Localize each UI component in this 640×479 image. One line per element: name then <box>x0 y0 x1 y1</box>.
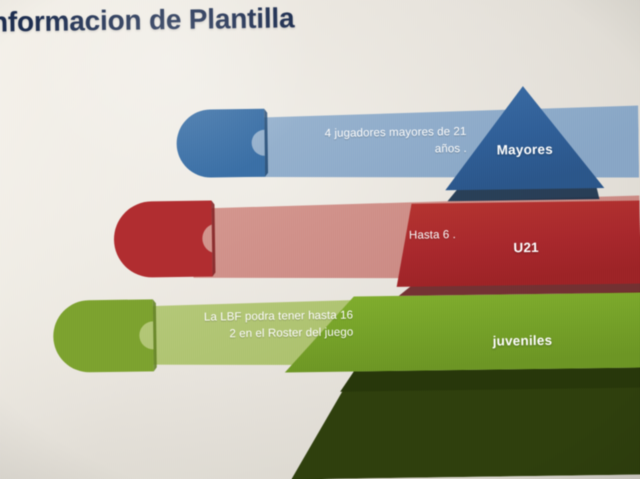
presentation-slide: nformacion de Plantilla <box>0 0 640 479</box>
pyramid-base-shadow <box>290 368 640 479</box>
callout-cap-red <box>113 201 212 278</box>
pyramid-graphic <box>0 0 640 479</box>
pyramid-tier-green[interactable] <box>53 292 640 376</box>
pyramid-diagram: 4 jugadores mayores de 21 años . Hasta 6… <box>0 0 640 479</box>
pyramid-tier-red[interactable] <box>113 195 640 300</box>
screenshot-photo: nformacion de Plantilla <box>0 0 640 479</box>
pyramid-tier-blue[interactable] <box>176 85 640 205</box>
callout-cap-green <box>53 299 154 372</box>
pyramid-tier-shape-red <box>396 201 640 287</box>
